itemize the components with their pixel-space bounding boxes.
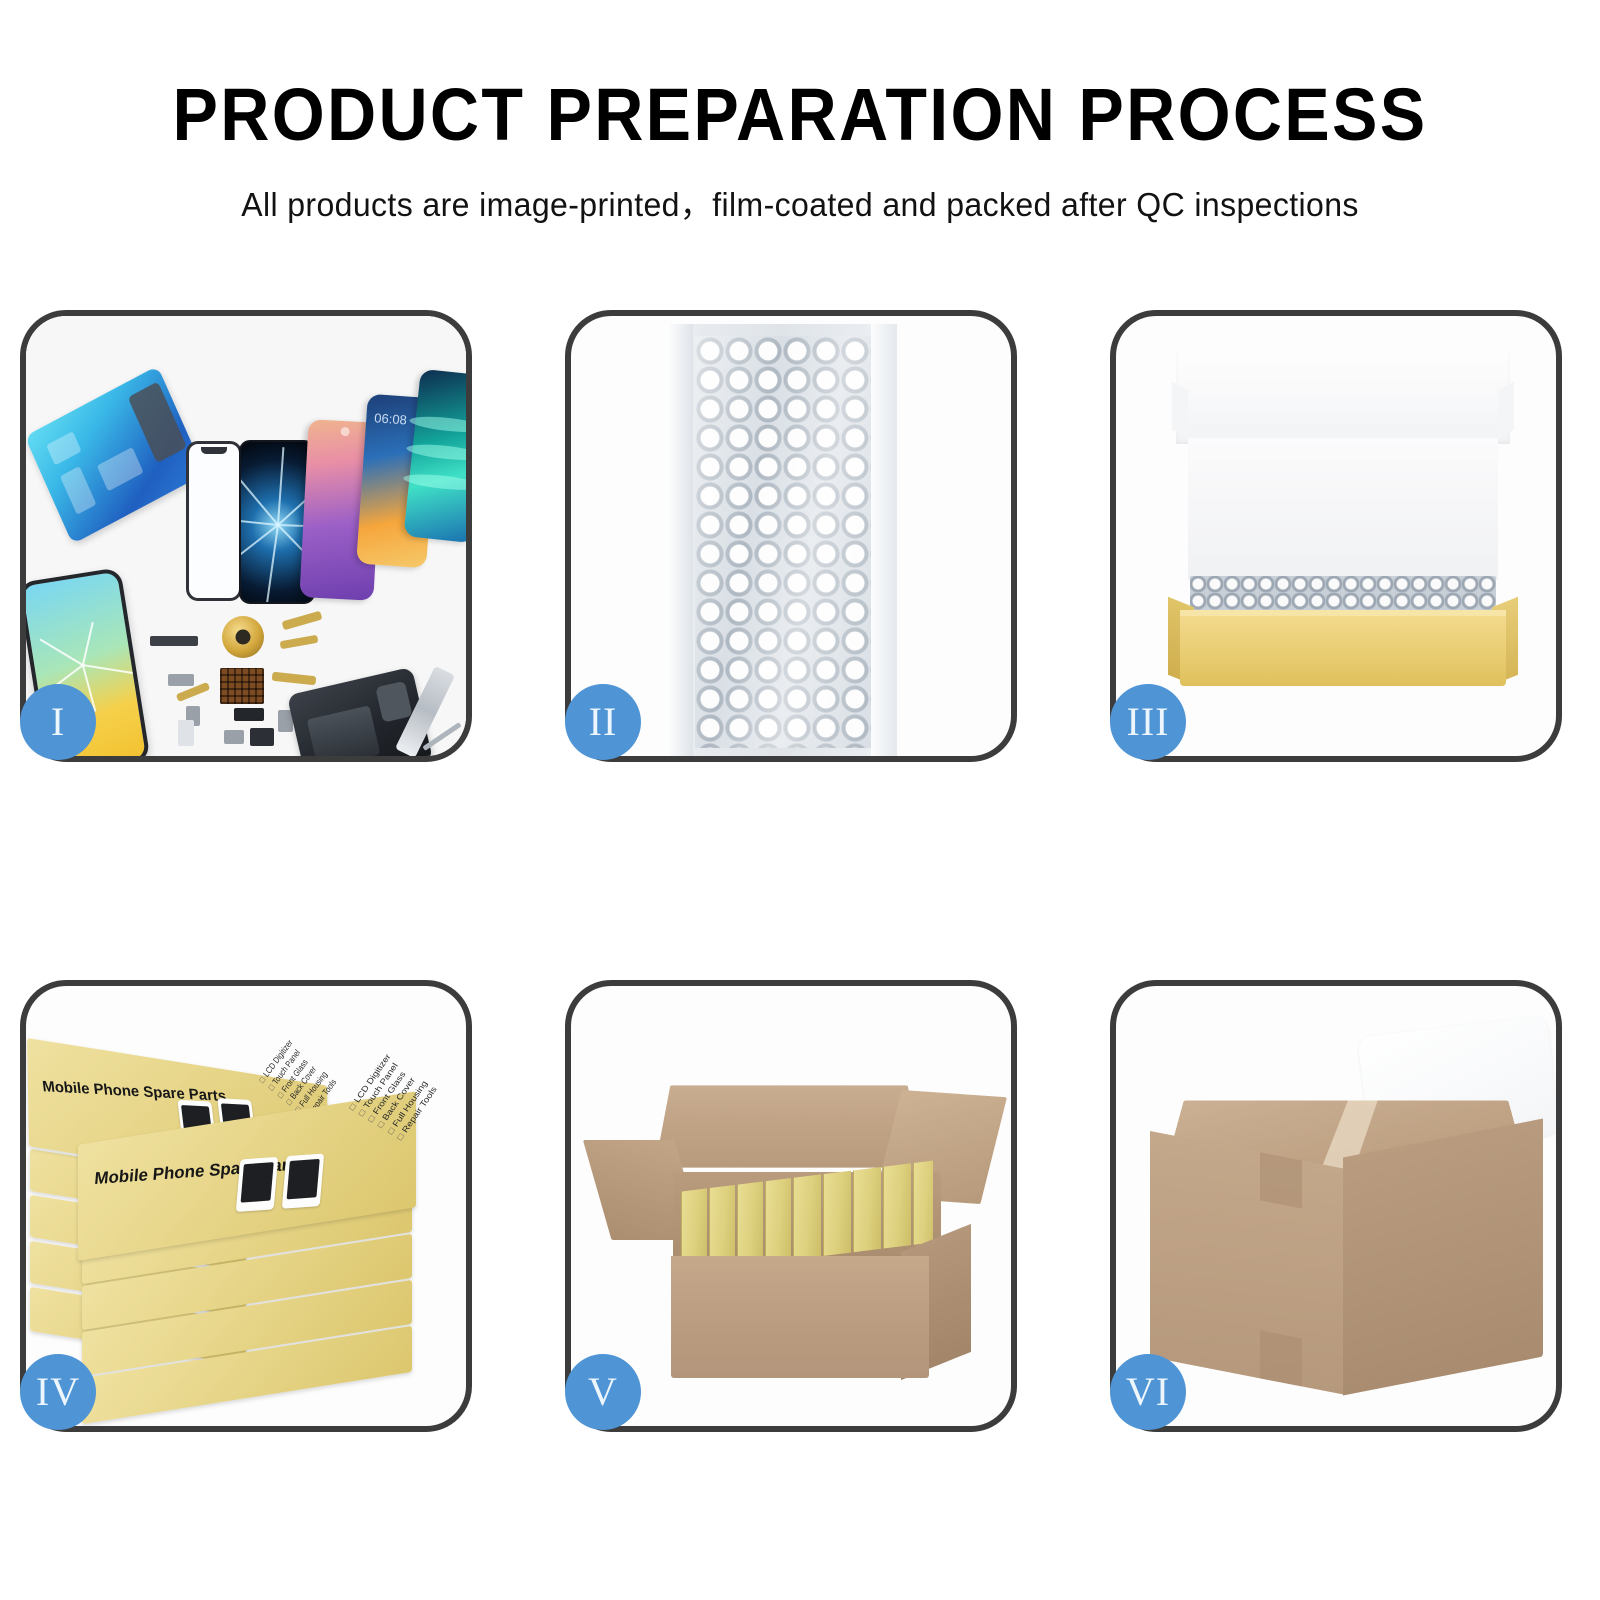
connector-strip-icon xyxy=(150,636,198,646)
box-label-phone-thumb xyxy=(236,1157,278,1212)
step-panel-4[interactable]: Mobile Phone Spare Parts LCD Digitizer T… xyxy=(20,980,472,1432)
front-glass-icon xyxy=(186,441,242,601)
packed-retail-box xyxy=(883,1163,911,1248)
open-inner-box xyxy=(1170,352,1516,712)
box-inner-wall xyxy=(1188,438,1498,580)
step-badge-2: II xyxy=(565,684,641,760)
step-badge-3: III xyxy=(1110,684,1186,760)
retail-box-stack: Mobile Phone Spare Parts LCD Digitizer T… xyxy=(26,1006,466,1426)
step-image-1: 06:08 xyxy=(26,316,466,756)
step-image-5 xyxy=(571,986,1011,1426)
packed-retail-box xyxy=(793,1174,821,1259)
carton-tab xyxy=(1260,1330,1302,1386)
carton-face-right xyxy=(1343,1119,1543,1396)
packed-retail-box xyxy=(737,1181,763,1266)
small-component-icon xyxy=(250,728,274,746)
step-panel-2[interactable]: II xyxy=(565,310,1017,762)
carton-flap-back xyxy=(655,1085,924,1167)
wireless-charging-coil-icon xyxy=(222,616,264,658)
step-image-4: Mobile Phone Spare Parts LCD Digitizer T… xyxy=(26,986,466,1426)
carton-face-left xyxy=(1150,1131,1346,1395)
bubble-wrap-sleeve xyxy=(667,324,897,756)
page-title: PRODUCT PREPARATION PROCESS xyxy=(64,78,1536,152)
step-image-2 xyxy=(571,316,1011,756)
step-image-6 xyxy=(1116,986,1556,1426)
box-tray-front xyxy=(1180,616,1506,686)
page-subtitle: All products are image-printed，film-coat… xyxy=(24,178,1576,226)
step-panel-1[interactable]: 06:08 xyxy=(20,310,472,762)
small-component-icon xyxy=(224,730,244,744)
sealed-shipping-carton xyxy=(1138,1038,1552,1386)
carton-tab xyxy=(1260,1152,1302,1208)
phone-parts-collage: 06:08 xyxy=(26,316,466,756)
open-shipping-carton xyxy=(611,1046,987,1386)
step-panel-3[interactable]: III xyxy=(1110,310,1562,762)
small-component-icon xyxy=(168,674,194,686)
step-image-3 xyxy=(1116,316,1556,756)
packed-retail-box xyxy=(823,1171,851,1256)
step-panel-6[interactable]: VI xyxy=(1110,980,1562,1432)
bubble-wrap-texture xyxy=(695,336,871,748)
box-label-checklist: LCD Digitizer Touch Panel Front Glass Ba… xyxy=(346,1052,441,1142)
infographic-page: PRODUCT PREPARATION PROCESS All products… xyxy=(0,0,1600,1600)
logic-board-chip-icon xyxy=(220,668,264,704)
packed-retail-box xyxy=(913,1161,933,1245)
box-lid-icon xyxy=(1176,352,1510,444)
small-component-icon xyxy=(234,708,264,721)
step-badge-6: VI xyxy=(1110,1354,1186,1430)
header: PRODUCT PREPARATION PROCESS All products… xyxy=(0,0,1600,226)
step-badge-4: IV xyxy=(20,1354,96,1430)
step-badge-1: I xyxy=(20,684,96,760)
sim-tray-icon xyxy=(178,720,194,746)
step-badge-5: V xyxy=(565,1354,641,1430)
box-label-phone-thumb xyxy=(282,1154,324,1209)
step-panel-5[interactable]: V xyxy=(565,980,1017,1432)
carton-front-face xyxy=(671,1256,929,1378)
packed-retail-box xyxy=(853,1167,881,1252)
packed-retail-box xyxy=(765,1178,791,1263)
